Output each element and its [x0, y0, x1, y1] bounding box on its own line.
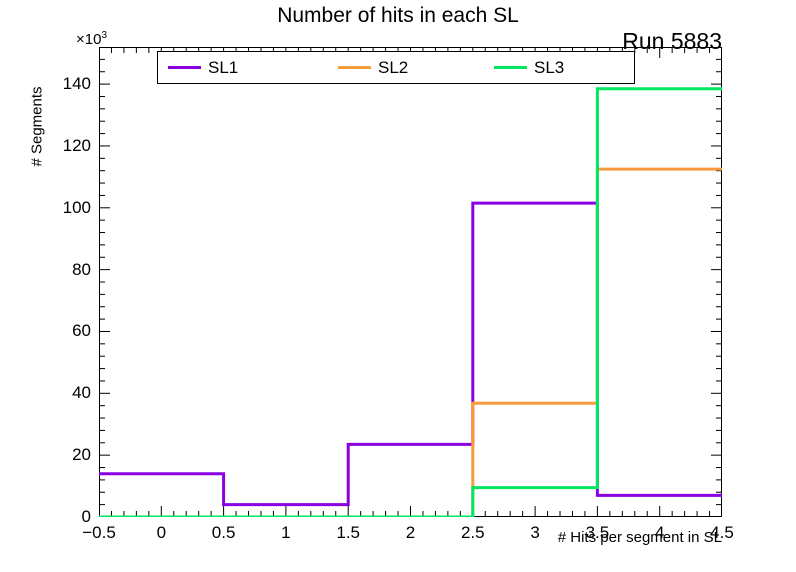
- x-tick-label: 2: [406, 523, 415, 543]
- x-axis-title: # Hits per segment in SL: [558, 529, 722, 546]
- x-tick-label: 3.5: [586, 523, 610, 543]
- y-axis-ticks: [99, 47, 722, 517]
- y-axis-exponent-base: ×10: [76, 31, 101, 48]
- histogram-svg: [99, 47, 722, 517]
- x-tick-label: 2.5: [461, 523, 485, 543]
- y-tick-label: 40: [31, 383, 91, 403]
- legend-swatch-icon: [494, 66, 527, 69]
- y-tick-label: 80: [31, 260, 91, 280]
- legend-label: SL1: [208, 58, 238, 78]
- axis-frame: [100, 48, 722, 517]
- legend-swatch-icon: [168, 66, 201, 69]
- y-tick-label: 20: [31, 445, 91, 465]
- page-title: Number of hits in each SL: [0, 4, 796, 28]
- x-tick-label: 4: [655, 523, 664, 543]
- y-axis-exponent-power: 3: [101, 30, 107, 41]
- y-tick-label: 100: [31, 198, 91, 218]
- legend: SL1SL2SL3: [157, 51, 635, 84]
- y-tick-label: 60: [31, 321, 91, 341]
- y-axis-title: # Segments: [29, 42, 46, 212]
- x-tick-label: 0: [157, 523, 166, 543]
- legend-label: SL3: [534, 58, 564, 78]
- histogram-series-sl2: [99, 169, 722, 517]
- y-tick-label: 120: [31, 136, 91, 156]
- legend-swatch-icon: [338, 66, 371, 69]
- plot-canvas: Number of hits in each SL Run 5883 # Seg…: [0, 0, 796, 572]
- y-tick-label: 140: [31, 74, 91, 94]
- x-tick-label: 1: [281, 523, 290, 543]
- x-tick-label: 4.5: [710, 523, 734, 543]
- x-tick-label: 3: [530, 523, 539, 543]
- x-tick-label: 0.5: [212, 523, 236, 543]
- plot-frame: [99, 47, 722, 517]
- legend-label: SL2: [378, 58, 408, 78]
- legend-entry-sl1[interactable]: SL1: [168, 52, 238, 83]
- histogram-series-sl3: [99, 89, 722, 517]
- histogram-series-sl1: [99, 203, 722, 504]
- legend-entry-sl3[interactable]: SL3: [494, 52, 564, 83]
- x-tick-label: 1.5: [336, 523, 360, 543]
- x-axis-ticks: [99, 47, 722, 517]
- y-axis-exponent: ×103: [76, 30, 107, 48]
- legend-entry-sl2[interactable]: SL2: [338, 52, 408, 83]
- x-tick-label: −0.5: [82, 523, 116, 543]
